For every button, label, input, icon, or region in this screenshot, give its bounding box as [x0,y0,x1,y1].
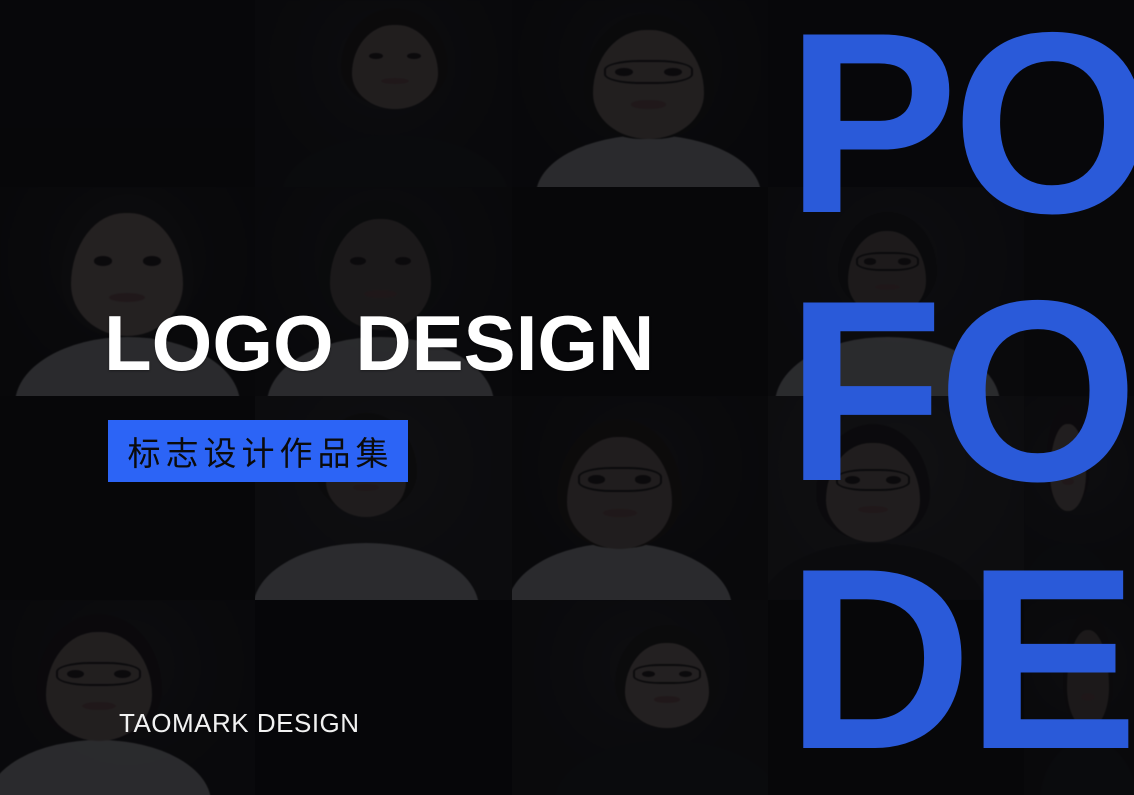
tile-r3c5 [1024,396,1134,600]
tile-r3c4 [768,396,1024,600]
tile-r1c5 [1024,0,1134,187]
poster-canvas: PO FO DE LOGO DESIGN 标志设计作品集 TAOMARK DES… [0,0,1134,795]
tile-r4c3 [512,600,768,795]
tile-r3c3 [512,396,768,600]
tile-r2c5 [1024,187,1134,396]
subtitle-badge-label: 标志设计作品集 [123,427,394,475]
tile-r4c2 [255,600,512,795]
tile-r1c3 [512,0,768,187]
tile-r4c4 [768,600,1024,795]
portrait-illustration [768,187,1024,396]
portrait-illustration [768,396,1024,600]
portrait-illustration [1024,600,1134,795]
subtitle-badge: 标志设计作品集 [108,420,408,482]
portrait-illustration [1024,396,1134,600]
tile-r2c4 [768,187,1024,396]
portrait-illustration [512,0,768,187]
portrait-illustration [255,0,512,187]
page-title: LOGO DESIGN [104,304,654,382]
tile-r1c4 [768,0,1024,187]
photo-mosaic [0,0,1134,795]
tile-r1c2 [255,0,512,187]
portrait-illustration [0,600,255,795]
portrait-illustration [512,600,768,795]
tile-r4c1 [0,600,255,795]
tile-r4c5 [1024,600,1134,795]
brand-footer: TAOMARK DESIGN [119,708,360,739]
tile-r1c1 [0,0,255,187]
portrait-illustration [512,396,768,600]
